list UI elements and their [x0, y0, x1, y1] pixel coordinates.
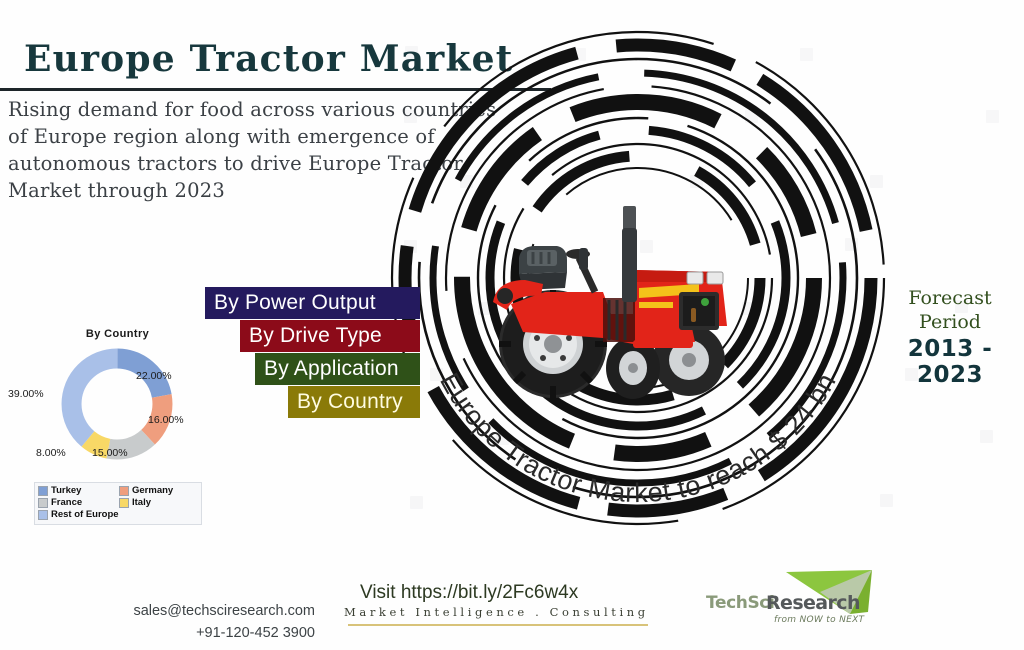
legend-label: Italy: [132, 497, 151, 509]
legend-label: Germany: [132, 485, 173, 497]
forecast-label-line1: Forecast: [880, 286, 1020, 310]
category-bar-power-output[interactable]: By Power Output: [205, 287, 420, 319]
category-label: By Application: [264, 357, 399, 381]
infographic-canvas: Europe Tractor Market Rising demand for …: [0, 0, 1024, 650]
contact-phone[interactable]: +91-120-452 3900: [100, 622, 315, 644]
legend-swatch-turkey: [38, 486, 48, 496]
donut-graphic: [57, 344, 177, 464]
contact-email[interactable]: sales@techsciresearch.com: [100, 600, 315, 622]
legend-item-italy: Italy: [119, 497, 198, 509]
forecast-label-line2: Period: [880, 310, 1020, 334]
donut-value-france: 15.00%: [92, 447, 128, 459]
donut-value-italy: 8.00%: [36, 447, 66, 459]
category-bar-country[interactable]: By Country: [288, 386, 420, 418]
company-tagline: Market Intelligence . Consulting: [344, 605, 649, 619]
logo-name-part1: TechSci: [706, 593, 774, 613]
logo-name-part2: Research: [766, 592, 860, 614]
legend-label: Rest of Europe: [51, 509, 119, 521]
tagline-divider: [348, 624, 648, 626]
legend-label: France: [51, 497, 82, 509]
visit-link[interactable]: Visit https://bit.ly/2Fc6w4x: [360, 582, 578, 604]
category-bar-drive-type[interactable]: By Drive Type: [240, 320, 420, 352]
donut-value-rest-of-europe: 39.00%: [8, 388, 44, 400]
techsci-research-logo[interactable]: TechSci Research from NOW to NEXT: [700, 568, 880, 628]
donut-wrapper: 22.00% 16.00% 15.00% 8.00% 39.00%: [10, 346, 225, 464]
chart-legend: Turkey Germany France Italy Rest of Euro…: [34, 482, 202, 525]
legend-item-germany: Germany: [119, 485, 198, 497]
legend-swatch-italy: [119, 498, 129, 508]
donut-value-germany: 16.00%: [148, 414, 184, 426]
logo-tagline: from NOW to NEXT: [774, 615, 866, 625]
forecast-years: 2013 - 2023: [880, 336, 1020, 388]
category-bar-application[interactable]: By Application: [255, 353, 420, 385]
legend-item-rest-of-europe: Rest of Europe: [38, 509, 198, 521]
legend-swatch-germany: [119, 486, 129, 496]
legend-swatch-france: [38, 498, 48, 508]
category-label: By Country: [297, 390, 403, 414]
legend-label: Turkey: [51, 485, 81, 497]
by-country-chart: By Country 22.00%: [10, 326, 225, 526]
legend-swatch-rest-of-europe: [38, 510, 48, 520]
category-label: By Power Output: [214, 291, 376, 315]
contact-block: sales@techsciresearch.com +91-120-452 39…: [100, 600, 315, 644]
legend-item-france: France: [38, 497, 117, 509]
legend-item-turkey: Turkey: [38, 485, 117, 497]
category-label: By Drive Type: [249, 324, 382, 348]
chart-title: By Country: [10, 328, 225, 340]
tractor-image: [483, 192, 771, 408]
donut-value-turkey: 22.00%: [136, 370, 172, 382]
forecast-period-block: Forecast Period 2013 - 2023: [880, 286, 1020, 388]
